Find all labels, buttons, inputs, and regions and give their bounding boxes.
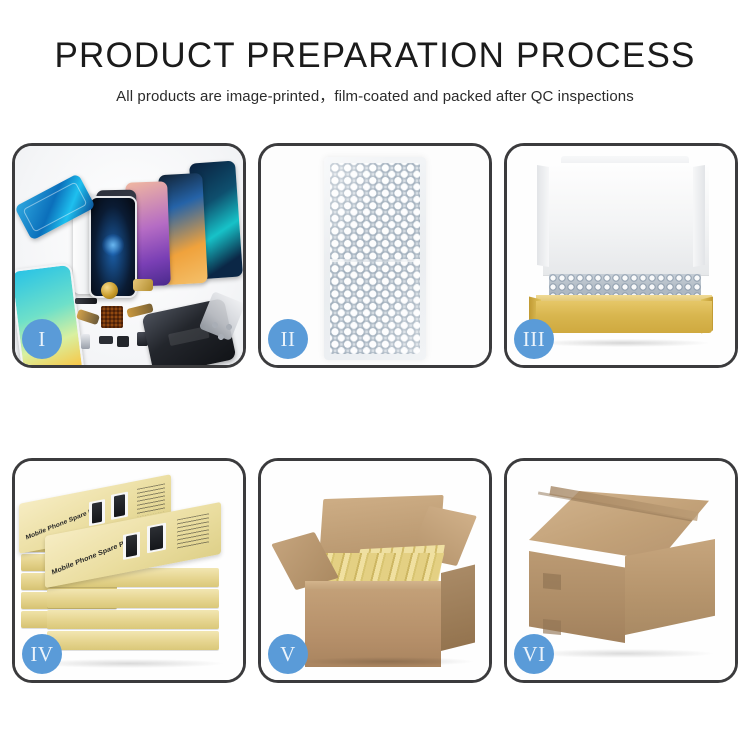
step-panel-4: Mobile Phone Spare Parts Mobile Phone Sp… [12, 458, 246, 683]
spare-part-strip [75, 298, 97, 304]
spare-part-sim-tray [81, 334, 90, 349]
retail-box-window-front-a [123, 532, 140, 560]
mailer-lid [543, 163, 709, 276]
spare-part-chip [101, 306, 123, 328]
sealed-carton-handle-bottom [543, 619, 561, 635]
retail-box-window-rear-a [89, 499, 105, 526]
spare-part-button [99, 336, 113, 344]
retail-box-window-front-b [147, 523, 166, 554]
product-preparation-infographic: PRODUCT PREPARATION PROCESS All products… [0, 0, 750, 750]
step-badge-1: I [22, 319, 62, 359]
step-badge-6: VI [514, 634, 554, 674]
spare-part-vibrator-motor [101, 282, 118, 299]
drop-shadow [301, 657, 473, 666]
spare-part-speaker [117, 336, 129, 347]
bubble-wrap-pouch [324, 157, 426, 360]
spare-part-gold-connector [133, 279, 153, 291]
carton-side-panel [441, 565, 475, 651]
retail-box-front-3 [47, 589, 219, 608]
step-badge-3: III [514, 319, 554, 359]
drop-shadow [533, 649, 713, 658]
retail-box-front-4 [47, 610, 219, 629]
drop-shadow [33, 659, 223, 668]
bubble-wrap-sheen [324, 157, 426, 360]
step-badge-5: V [268, 634, 308, 674]
step-panel-2: II [258, 143, 492, 368]
mailer-lid-flap-left [537, 165, 549, 267]
retail-box-front-5 [47, 631, 219, 650]
sealed-carton-handle-top [543, 573, 561, 590]
process-step-grid: I II [12, 143, 738, 683]
retail-box-spec-lines-front [177, 513, 209, 549]
step-panel-5: V [258, 458, 492, 683]
page-subtitle: All products are image-printed，film-coat… [0, 76, 750, 106]
step-badge-2: II [268, 319, 308, 359]
step-badge-4: IV [22, 634, 62, 674]
step-panel-1: I [12, 143, 246, 368]
retail-box-spec-lines-rear [137, 483, 165, 516]
mailer-lid-flap-right [693, 165, 705, 267]
header: PRODUCT PREPARATION PROCESS All products… [0, 0, 750, 106]
mailer-base-front [536, 301, 712, 333]
step-panel-3: III [504, 143, 738, 368]
page-title: PRODUCT PREPARATION PROCESS [0, 0, 750, 76]
retail-box-window-rear-b [111, 492, 128, 520]
spare-part-screws [211, 321, 237, 341]
step-panel-6: VI [504, 458, 738, 683]
carton-front-panel [305, 589, 441, 667]
drop-shadow [537, 339, 709, 347]
